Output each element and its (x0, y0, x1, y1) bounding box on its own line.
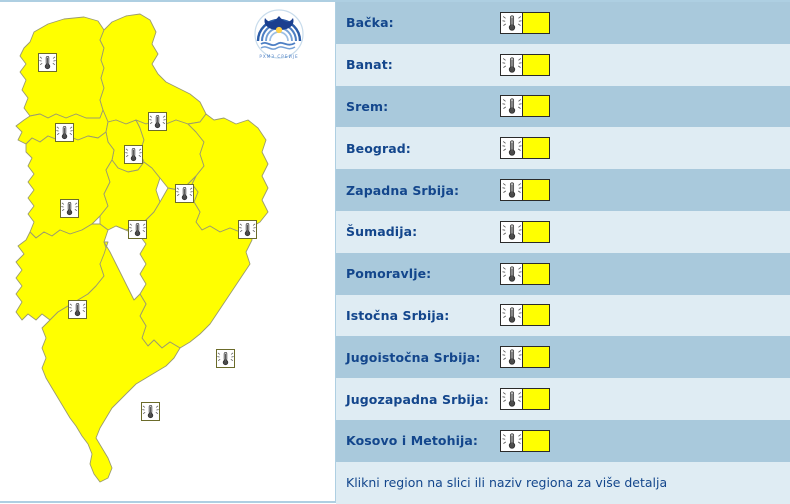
region-list-panel: Bačka:Banat:Srem:Beograd:Zapadna Srbija:… (336, 0, 790, 503)
map-pin-kosovo-i-metohija[interactable] (141, 402, 160, 421)
alert-color-chip-jugozapadna-srbija (523, 389, 549, 409)
alert-color-chip-banat (523, 55, 549, 75)
footer-instruction-text: Klikni region na slici ili naziv regiona… (346, 475, 667, 490)
region-label-istočna-srbija[interactable]: Istočna Srbija: (346, 308, 496, 323)
region-row-srem[interactable]: Srem: (336, 86, 790, 128)
region-label-šumadija[interactable]: Šumadija: (346, 224, 496, 239)
map-pin-jugoistočna-srbija[interactable] (216, 349, 235, 368)
list-footer: Klikni region na slici ili naziv regiona… (336, 462, 790, 504)
alert-color-chip-bačka (523, 13, 549, 33)
alert-swatch-jugozapadna-srbija[interactable] (500, 388, 550, 410)
map-pin-jugozapadna-srbija[interactable] (68, 300, 87, 319)
map-pin-istočna-srbija[interactable] (238, 220, 257, 239)
alert-swatch-kosovo-i-metohija[interactable] (500, 430, 550, 452)
weather-alert-page: РХМЗ СРБИЈЕ Bačka:Banat:Srem:Beograd:Zap… (0, 0, 790, 503)
region-label-kosovo-i-metohija[interactable]: Kosovo i Metohija: (346, 433, 496, 448)
alert-color-chip-pomoravlje (523, 264, 549, 284)
alert-swatch-istočna-srbija[interactable] (500, 304, 550, 326)
thermometer-heat-icon (501, 96, 523, 116)
region-label-jugoistočna-srbija[interactable]: Jugoistočna Srbija: (346, 350, 496, 365)
alert-color-chip-jugoistočna-srbija (523, 347, 549, 367)
thermometer-heat-icon (501, 264, 523, 284)
region-row-istočna-srbija[interactable]: Istočna Srbija: (336, 295, 790, 337)
region-label-beograd[interactable]: Beograd: (346, 141, 496, 156)
region-label-banat[interactable]: Banat: (346, 57, 496, 72)
alert-color-chip-beograd (523, 138, 549, 158)
alert-swatch-beograd[interactable] (500, 137, 550, 159)
map-region-istocna-srbija[interactable] (188, 114, 268, 232)
thermometer-heat-icon (501, 305, 523, 325)
map-pin-pomoravlje[interactable] (175, 184, 194, 203)
region-row-šumadija[interactable]: Šumadija: (336, 211, 790, 253)
thermometer-heat-icon (501, 389, 523, 409)
region-label-bačka[interactable]: Bačka: (346, 15, 496, 30)
alert-color-chip-srem (523, 96, 549, 116)
map-pin-beograd[interactable] (124, 145, 143, 164)
thermometer-heat-icon (501, 13, 523, 33)
serbia-map-svg[interactable] (0, 2, 335, 502)
map-region-banat[interactable] (100, 14, 206, 124)
region-row-jugozapadna-srbija[interactable]: Jugozapadna Srbija: (336, 378, 790, 420)
map-pin-srem[interactable] (55, 123, 74, 142)
alert-color-chip-šumadija (523, 222, 549, 242)
region-label-jugozapadna-srbija[interactable]: Jugozapadna Srbija: (346, 392, 496, 407)
logo-caption: РХМЗ СРБИЈЕ (259, 54, 298, 59)
alert-swatch-šumadija[interactable] (500, 221, 550, 243)
alert-color-chip-zapadna-srbija (523, 180, 549, 200)
alert-swatch-banat[interactable] (500, 54, 550, 76)
alert-swatch-jugoistočna-srbija[interactable] (500, 346, 550, 368)
thermometer-heat-icon (501, 222, 523, 242)
region-row-zapadna-srbija[interactable]: Zapadna Srbija: (336, 169, 790, 211)
region-row-bačka[interactable]: Bačka: (336, 2, 790, 44)
map-panel: РХМЗ СРБИЈЕ (0, 0, 336, 503)
map-region-backa[interactable] (20, 17, 104, 118)
region-label-zapadna-srbija[interactable]: Zapadna Srbija: (346, 183, 496, 198)
alert-swatch-bačka[interactable] (500, 12, 550, 34)
map-pin-šumadija[interactable] (128, 220, 147, 239)
alert-swatch-pomoravlje[interactable] (500, 263, 550, 285)
region-row-banat[interactable]: Banat: (336, 44, 790, 86)
region-label-pomoravlje[interactable]: Pomoravlje: (346, 266, 496, 281)
alert-swatch-srem[interactable] (500, 95, 550, 117)
thermometer-heat-icon (501, 180, 523, 200)
region-row-pomoravlje[interactable]: Pomoravlje: (336, 253, 790, 295)
map-pin-banat[interactable] (148, 112, 167, 131)
alert-color-chip-istočna-srbija (523, 305, 549, 325)
region-row-beograd[interactable]: Beograd: (336, 127, 790, 169)
rhmz-srbije-logo: РХМЗ СРБИЈЕ (251, 8, 307, 64)
thermometer-heat-icon (501, 138, 523, 158)
region-label-srem[interactable]: Srem: (346, 99, 496, 114)
thermometer-heat-icon (501, 431, 523, 451)
alert-color-chip-kosovo-i-metohija (523, 431, 549, 451)
thermometer-heat-icon (501, 347, 523, 367)
region-row-jugoistočna-srbija[interactable]: Jugoistočna Srbija: (336, 336, 790, 378)
region-row-kosovo-i-metohija[interactable]: Kosovo i Metohija: (336, 420, 790, 462)
alert-swatch-zapadna-srbija[interactable] (500, 179, 550, 201)
map-pin-bačka[interactable] (38, 53, 57, 72)
region-rows: Bačka:Banat:Srem:Beograd:Zapadna Srbija:… (336, 2, 790, 462)
thermometer-heat-icon (501, 55, 523, 75)
map-pin-zapadna-srbija[interactable] (60, 199, 79, 218)
